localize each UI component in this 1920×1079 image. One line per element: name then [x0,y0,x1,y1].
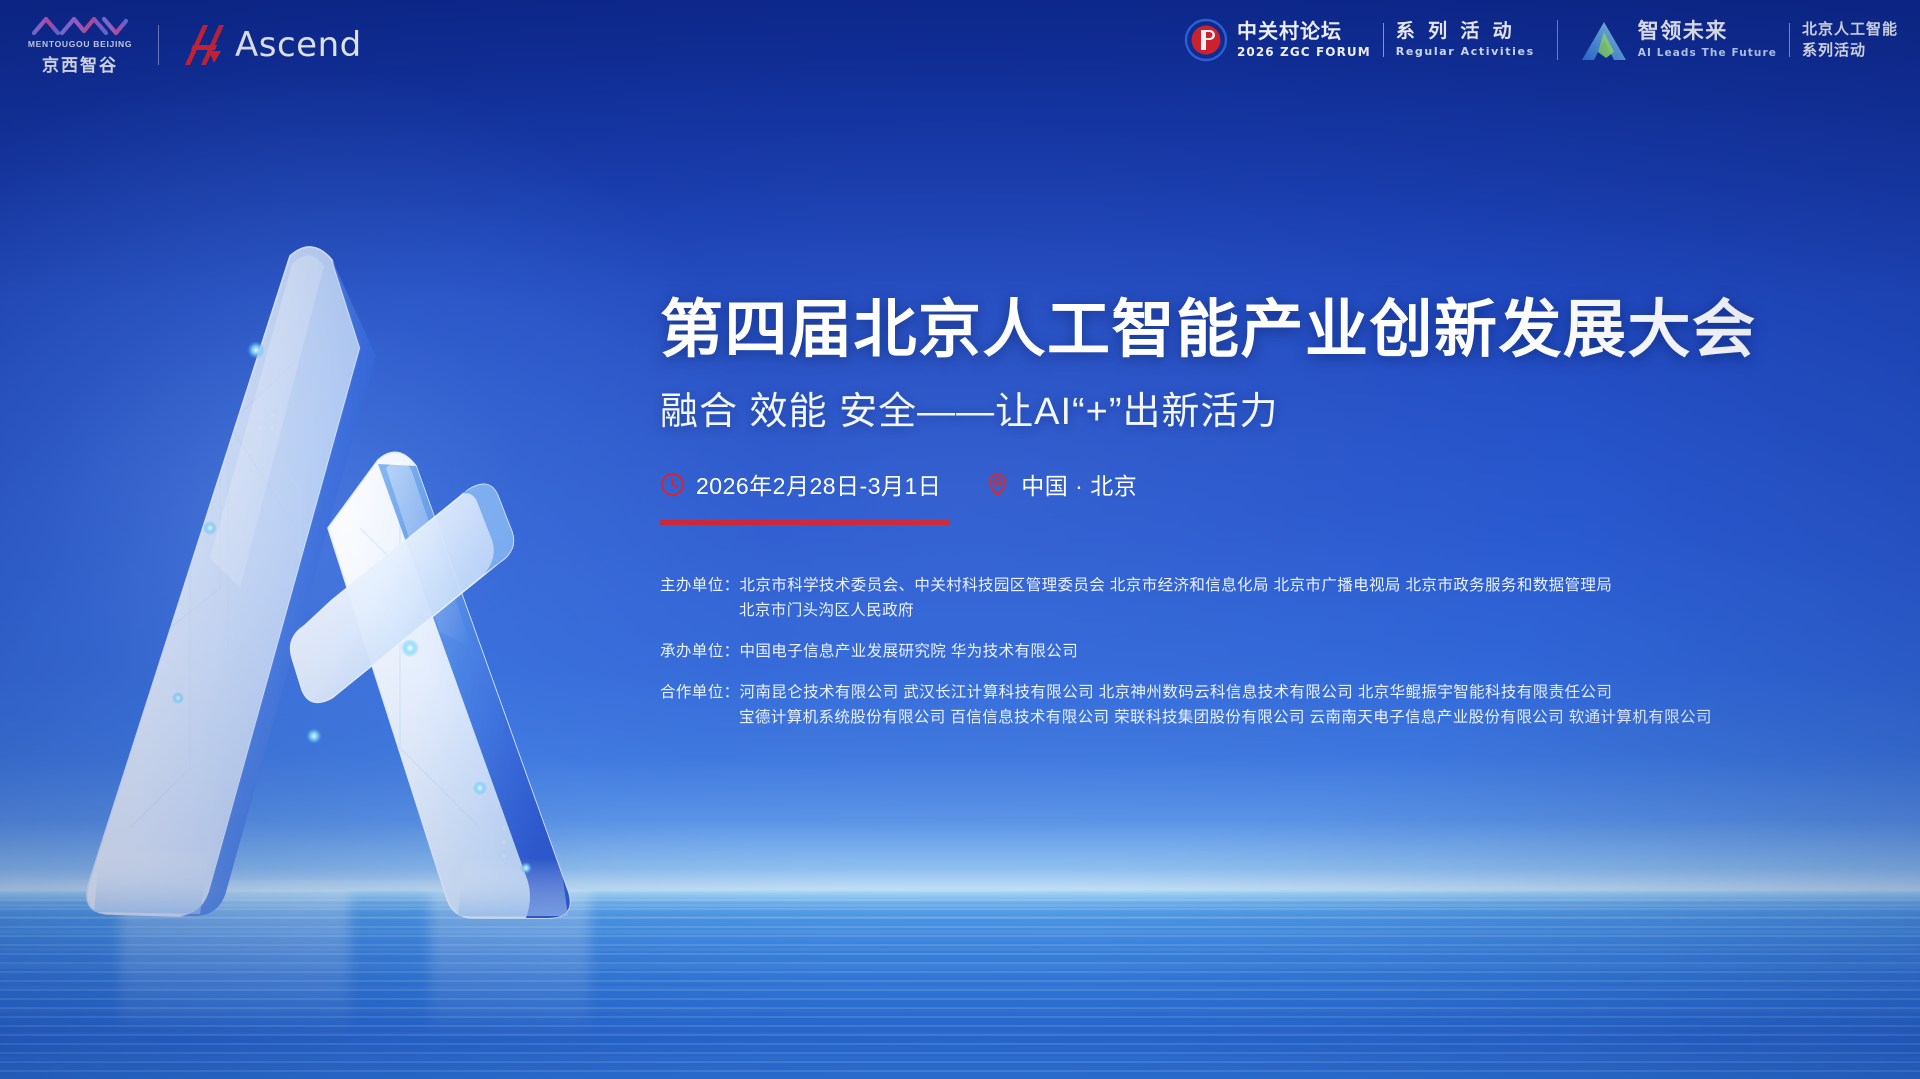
logo-divider [158,25,159,65]
zhiling-logo[interactable]: 智领未来 AI Leads The Future 北京人工智能 系列活动 [1580,18,1898,62]
mentougou-logo[interactable]: MENTOUGOU BEIJING 京西智谷 [24,14,136,76]
mentougou-english: MENTOUGOU BEIJING [28,39,132,49]
zgc-series-divider [1383,23,1384,57]
beijing-ai-line-1: 北京人工智能 [1802,19,1898,40]
accent-divider [660,520,950,525]
event-date-text: 2026年2月28日-3月1日 [696,467,941,501]
logo-group-right: 中关村论坛 2026 ZGC FORUM 系 列 活 动 Regular Act… [1184,18,1898,62]
zgc-series-chinese: 系 列 活 动 [1396,22,1535,42]
zgc-forum-chinese: 中关村论坛 [1237,22,1371,43]
beijing-ai-series-block: 北京人工智能 系列活动 [1802,19,1898,61]
zhiling-divider [1789,23,1790,57]
clock-icon [660,472,685,497]
zgc-forum-english: 2026 ZGC FORUM [1237,45,1371,59]
location-pin-icon [985,472,1010,497]
glass-letter-a-sculpture-icon [60,228,680,928]
zhiling-triangle-icon [1580,18,1630,62]
poster-content: 第四届北京人工智能产业创新发展大会 融合 效能 安全——让AI“+”出新活力 2… [660,296,1870,747]
logo-bar: MENTOUGOU BEIJING 京西智谷 Ascend [0,0,1920,96]
co-host-organizers-line-1: 承办单位：中国电子信息产业发展研究院 华为技术有限公司 [660,639,1870,664]
co-host-organizers: 承办单位：中国电子信息产业发展研究院 华为技术有限公司 [660,639,1870,664]
zgc-seal-icon [1184,18,1228,62]
sculpture-left-leg [87,247,376,916]
partner-organizers-line-2: 宝德计算机系统股份有限公司 百信信息技术有限公司 荣联科技集团股份有限公司 云南… [660,705,1870,730]
mentougou-chinese: 京西智谷 [42,51,118,76]
logo-group-left: MENTOUGOU BEIJING 京西智谷 Ascend [24,14,362,76]
ascend-wordmark: Ascend [235,25,362,65]
logo-divider-2 [1557,20,1558,60]
event-location: 中国 · 北京 [985,467,1137,501]
glass-letter-a-sculpture [60,228,680,928]
beijing-ai-line-2: 系列活动 [1802,40,1898,61]
host-organizers-line-2: 北京市门头沟区人民政府 [660,598,1870,623]
zgc-series-english: Regular Activities [1396,45,1535,58]
event-meta-row: 2026年2月28日-3月1日 中国 · 北京 [660,467,1870,501]
event-date: 2026年2月28日-3月1日 [660,467,941,501]
host-organizers: 主办单位：北京市科学技术委员会、中关村科技园区管理委员会 北京市经济和信息化局 … [660,573,1870,623]
zgc-series-block: 系 列 活 动 Regular Activities [1396,22,1535,58]
zhiling-english: AI Leads The Future [1638,47,1777,59]
page-title: 第四届北京人工智能产业创新发展大会 [660,296,1870,364]
mountain-peaks-icon [32,14,128,36]
ascend-a-mark-icon [181,23,227,67]
conference-poster: MENTOUGOU BEIJING 京西智谷 Ascend [0,0,1920,1079]
page-subtitle: 融合 效能 安全——让AI“+”出新活力 [660,380,1870,435]
organizers-section: 主办单位：北京市科学技术委员会、中关村科技园区管理委员会 北京市经济和信息化局 … [660,573,1870,731]
partner-organizers: 合作单位：河南昆仑技术有限公司 武汉长江计算科技有限公司 北京神州数码云科信息技… [660,680,1870,730]
partner-organizers-line-1: 合作单位：河南昆仑技术有限公司 武汉长江计算科技有限公司 北京神州数码云科信息技… [660,680,1870,705]
zhiling-chinese: 智领未来 [1638,21,1777,43]
zgc-forum-logo[interactable]: 中关村论坛 2026 ZGC FORUM [1184,18,1371,62]
host-organizers-line-1: 主办单位：北京市科学技术委员会、中关村科技园区管理委员会 北京市经济和信息化局 … [660,573,1870,598]
ascend-logo[interactable]: Ascend [181,23,362,67]
event-location-text: 中国 · 北京 [1021,467,1137,501]
